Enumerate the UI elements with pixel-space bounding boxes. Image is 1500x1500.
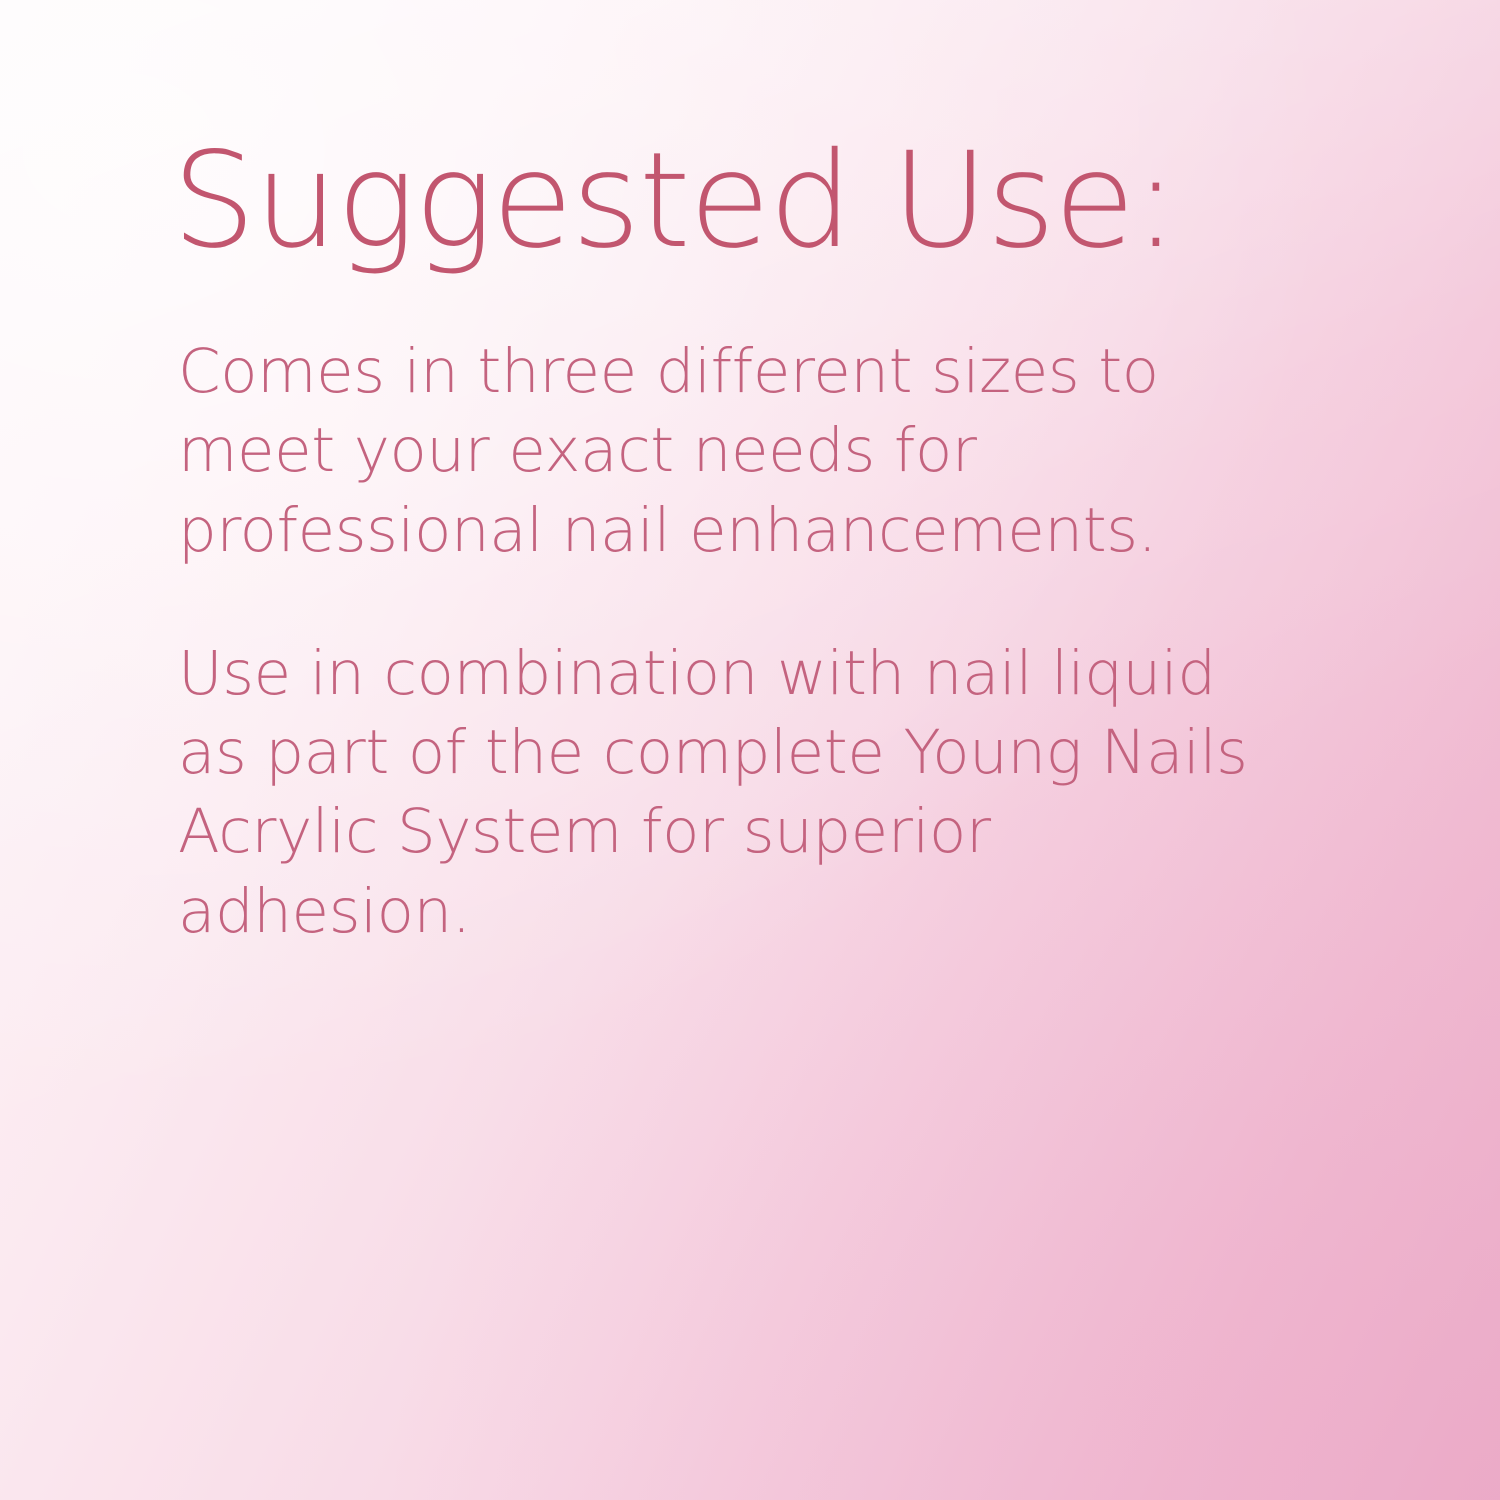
- paragraph-sizes: Comes in three different sizes to meet y…: [178, 332, 1258, 570]
- suggested-use-card: Suggested Use: Comes in three different …: [0, 0, 1500, 1500]
- paragraph-usage: Use in combination with nail liquid as p…: [178, 634, 1258, 951]
- card-content: Suggested Use: Comes in three different …: [178, 132, 1268, 951]
- page-title: Suggested Use:: [172, 132, 1268, 272]
- body-copy: Comes in three different sizes to meet y…: [178, 332, 1268, 951]
